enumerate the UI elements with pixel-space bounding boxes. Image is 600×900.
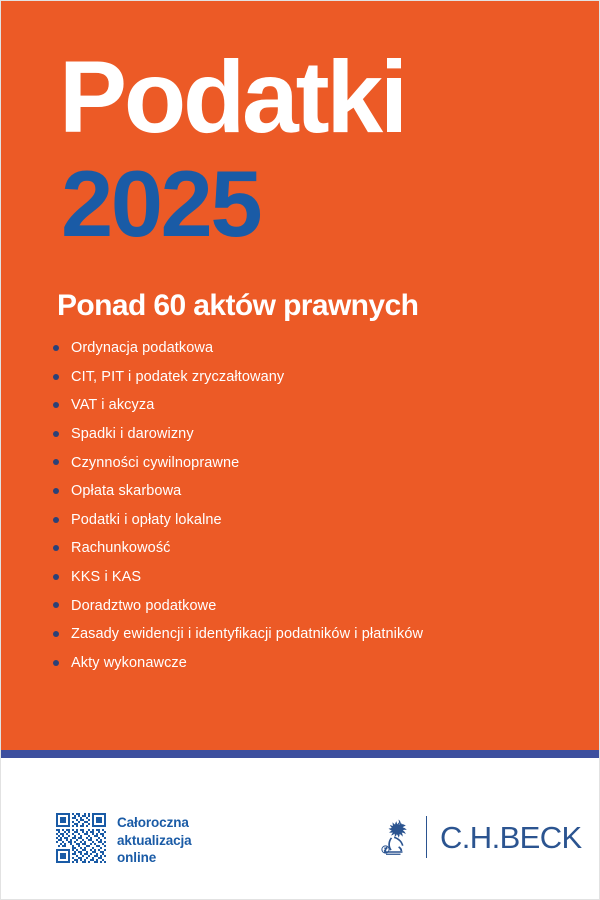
list-item-label: Czynności cywilnoprawne <box>71 455 239 471</box>
list-item-label: Opłata skarbowa <box>71 483 181 499</box>
publisher-logo-block: C.H.BECK <box>373 815 582 859</box>
bullet-dot-icon <box>53 402 59 408</box>
list-item-label: CIT, PIT i podatek zryczałtowany <box>71 369 284 385</box>
list-item: CIT, PIT i podatek zryczałtowany <box>53 363 573 392</box>
bullet-dot-icon <box>53 459 59 465</box>
list-item-label: Spadki i darowizny <box>71 426 194 442</box>
cover-footer: Całoroczna aktualizacja online C. <box>1 758 600 900</box>
griffin-logo-icon <box>373 815 413 859</box>
list-item-label: Rachunkowość <box>71 540 171 556</box>
promo-line-2: aktualizacja <box>117 832 192 850</box>
bullet-dot-icon <box>53 660 59 666</box>
list-item-label: Ordynacja podatkowa <box>71 340 213 356</box>
cover-title: Podatki <box>59 45 405 149</box>
contents-list: Ordynacja podatkowa CIT, PIT i podatek z… <box>53 334 573 677</box>
publisher-name: C.H.BECK <box>440 821 582 854</box>
list-item-label: KKS i KAS <box>71 569 141 585</box>
list-item-label: Akty wykonawcze <box>71 655 187 671</box>
bullet-dot-icon <box>53 574 59 580</box>
list-item: Czynności cywilnoprawne <box>53 448 573 477</box>
bullet-dot-icon <box>53 602 59 608</box>
list-item-label: Zasady ewidencji i identyfikacji podatni… <box>71 626 423 642</box>
list-item: Podatki i opłaty lokalne <box>53 506 573 535</box>
list-item: Opłata skarbowa <box>53 477 573 506</box>
list-item-label: Doradztwo podatkowe <box>71 598 216 614</box>
logo-divider <box>426 816 427 858</box>
list-item: Akty wykonawcze <box>53 649 573 678</box>
list-item-label: Podatki i opłaty lokalne <box>71 512 222 528</box>
list-item-label: VAT i akcyza <box>71 397 154 413</box>
bullet-dot-icon <box>53 488 59 494</box>
cover-divider-rule <box>1 750 600 758</box>
cover-year: 2025 <box>61 156 260 252</box>
list-item: Ordynacja podatkowa <box>53 334 573 363</box>
promo-line-1: Całoroczna <box>117 814 192 832</box>
cover-subtitle: Ponad 60 aktów prawnych <box>57 289 418 323</box>
online-update-text: Całoroczna aktualizacja online <box>117 813 192 867</box>
qr-code-icon <box>56 813 106 863</box>
bullet-dot-icon <box>53 431 59 437</box>
book-cover: Podatki 2025 Ponad 60 aktów prawnych Ord… <box>0 0 600 900</box>
list-item: Zasady ewidencji i identyfikacji podatni… <box>53 620 573 649</box>
online-update-promo: Całoroczna aktualizacja online <box>56 813 192 867</box>
list-item: KKS i KAS <box>53 563 573 592</box>
bullet-dot-icon <box>53 545 59 551</box>
bullet-dot-icon <box>53 374 59 380</box>
bullet-dot-icon <box>53 345 59 351</box>
list-item: Rachunkowość <box>53 534 573 563</box>
promo-line-3: online <box>117 849 192 867</box>
bullet-dot-icon <box>53 517 59 523</box>
list-item: VAT i akcyza <box>53 391 573 420</box>
bullet-dot-icon <box>53 631 59 637</box>
list-item: Spadki i darowizny <box>53 420 573 449</box>
list-item: Doradztwo podatkowe <box>53 591 573 620</box>
